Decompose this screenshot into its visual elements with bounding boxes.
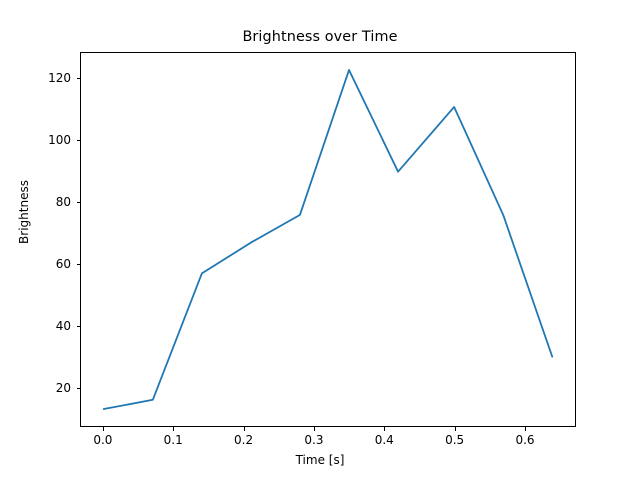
x-tick-mark xyxy=(384,427,385,431)
x-tick-mark xyxy=(103,427,104,431)
x-tick-mark xyxy=(173,427,174,431)
x-tick-mark xyxy=(525,427,526,431)
y-axis-tick-labels: 20406080100120 xyxy=(0,0,71,480)
x-tick-label: 0.6 xyxy=(515,433,534,447)
series-line-brightness xyxy=(104,70,552,409)
x-axis-tick-labels: 0.00.10.20.30.40.50.6 xyxy=(0,433,640,453)
y-tick-label: 120 xyxy=(48,71,71,85)
y-tick-mark xyxy=(77,140,81,141)
y-tick-mark xyxy=(77,264,81,265)
y-axis-label: Brightness xyxy=(17,152,31,272)
y-tick-mark xyxy=(77,78,81,79)
figure-canvas: Brightness over Time 20406080100120 0.00… xyxy=(0,0,640,480)
x-tick-mark xyxy=(455,427,456,431)
x-tick-label: 0.2 xyxy=(234,433,253,447)
x-tick-label: 0.5 xyxy=(445,433,464,447)
y-tick-label: 20 xyxy=(56,381,71,395)
line-series-svg xyxy=(81,53,575,426)
plot-area xyxy=(80,52,576,427)
x-tick-mark xyxy=(314,427,315,431)
x-tick-label: 0.0 xyxy=(93,433,112,447)
x-tick-mark xyxy=(244,427,245,431)
y-tick-label: 40 xyxy=(56,319,71,333)
y-tick-mark xyxy=(77,326,81,327)
x-tick-label: 0.3 xyxy=(304,433,323,447)
chart-title: Brightness over Time xyxy=(0,29,640,45)
y-tick-mark xyxy=(77,202,81,203)
x-axis-label: Time [s] xyxy=(0,453,640,467)
x-tick-label: 0.1 xyxy=(164,433,183,447)
y-tick-label: 80 xyxy=(56,195,71,209)
y-tick-mark xyxy=(77,388,81,389)
y-tick-label: 100 xyxy=(48,133,71,147)
x-tick-label: 0.4 xyxy=(375,433,394,447)
y-tick-label: 60 xyxy=(56,257,71,271)
